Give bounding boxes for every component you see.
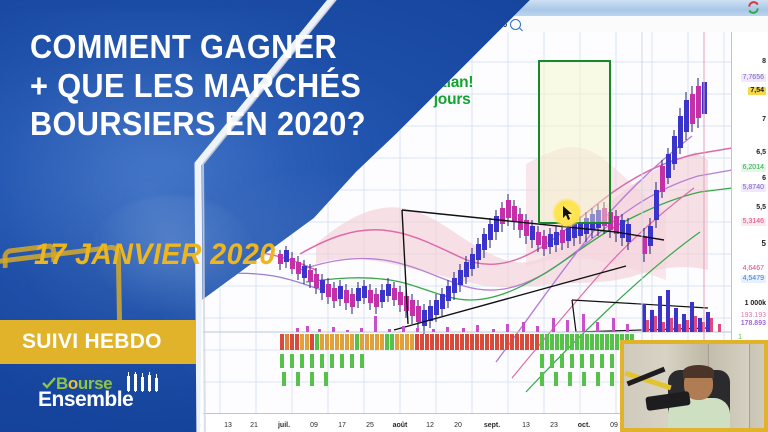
indicator-ribbon [280,334,634,350]
ytick-5-8740: 5,8740 [741,184,766,192]
ytick-7: 7 [762,116,766,124]
ytick-4-5479: 4,5479 [741,275,766,283]
ytick-6-2014: 6,2014 [741,164,766,172]
xtick-14: 09 [610,422,618,429]
xtick-8: 12 [426,422,434,429]
ytick-4-6467: 4,6467 [741,265,766,273]
status-badge-label: SUIVI HEBDO [0,330,162,354]
vtick-178893: 178.893 [741,320,766,328]
headline-line-3: BOURSIERS EN 2020? [30,105,467,144]
magnifier-icon[interactable] [510,19,521,30]
ytick-5-3146: 5,3146 [741,218,766,226]
vtick-1000k: 1 000k [745,300,766,308]
headline-line-2: + QUE LES MARCHÉS [30,67,467,106]
ytick-7-7656: 7,7656 [741,74,766,82]
refresh-icon[interactable] [747,1,760,14]
brand-logo[interactable]: Bourse Ensemble [38,374,168,422]
ytick-current-price: 7,54 [748,87,766,95]
xtick-3: juil. [278,422,290,429]
xtick-1: 13 [224,422,232,429]
xtick-2: 21 [250,422,258,429]
logo-text-bottom: Ensemble [38,388,133,412]
xtick-12: 23 [550,422,558,429]
xtick-6: 25 [366,422,374,429]
xtick-9: 20 [454,422,462,429]
xtick-13: oct. [578,422,590,429]
ytick-5-5: 5,5 [756,204,766,212]
webcam-person-hair [683,365,714,378]
indicator-ribbon-2 [280,354,644,368]
ytick-6: 6 [762,175,766,183]
check-icon [42,376,56,388]
status-badge: SUIVI HEBDO [0,320,196,364]
mouse-cursor-highlight [552,198,582,228]
xtick-4: 09 [310,422,318,429]
ytick-6-5: 6,5 [756,149,766,157]
xtick-5: 17 [338,422,346,429]
indicator-ribbon-3 [282,372,628,386]
ytick-5: 5 [762,240,766,248]
thumbnail-canvas: Position : 0 / 0 [0,0,768,432]
webcam-inset [620,340,768,432]
vtick-193193: 193.193 [741,312,766,320]
xtick-7: août [393,422,408,429]
headline-line-1: COMMENT GAGNER [30,28,467,67]
xtick-10: sept. [484,422,500,429]
date-label: 17 JANVIER 2020 [34,238,276,272]
xtick-11: 13 [522,422,530,429]
page-title: COMMENT GAGNER + QUE LES MARCHÉS BOURSIE… [30,28,467,144]
ytick-8: 8 [762,58,766,66]
